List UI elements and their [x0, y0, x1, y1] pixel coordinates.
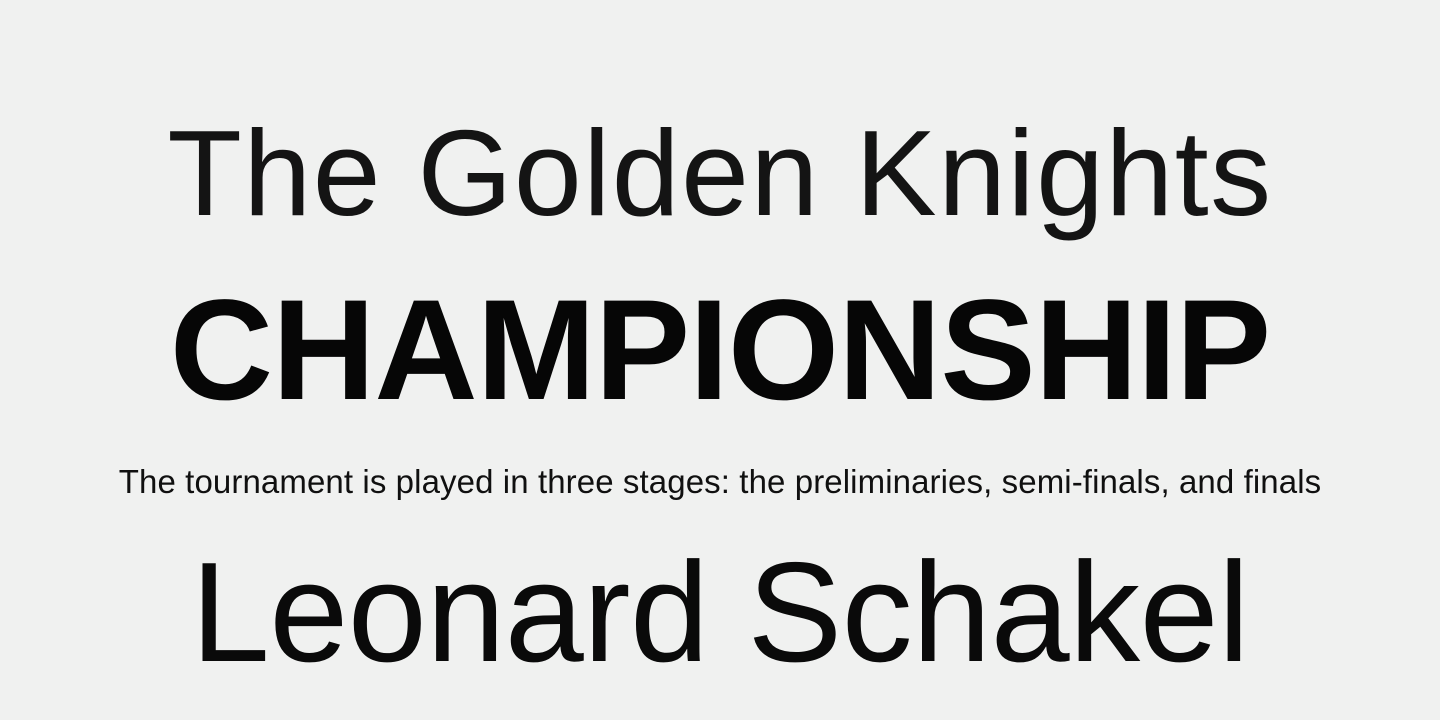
- headline-heavy: CHAMPIONSHIP: [0, 279, 1440, 422]
- subtitle-text: The tournament is played in three stages…: [0, 465, 1440, 498]
- name-display: Leonard Schakel: [0, 542, 1440, 684]
- headline-thin: The Golden Knights: [0, 112, 1440, 234]
- type-specimen-canvas: The Golden Knights CHAMPIONSHIP The tour…: [0, 0, 1440, 720]
